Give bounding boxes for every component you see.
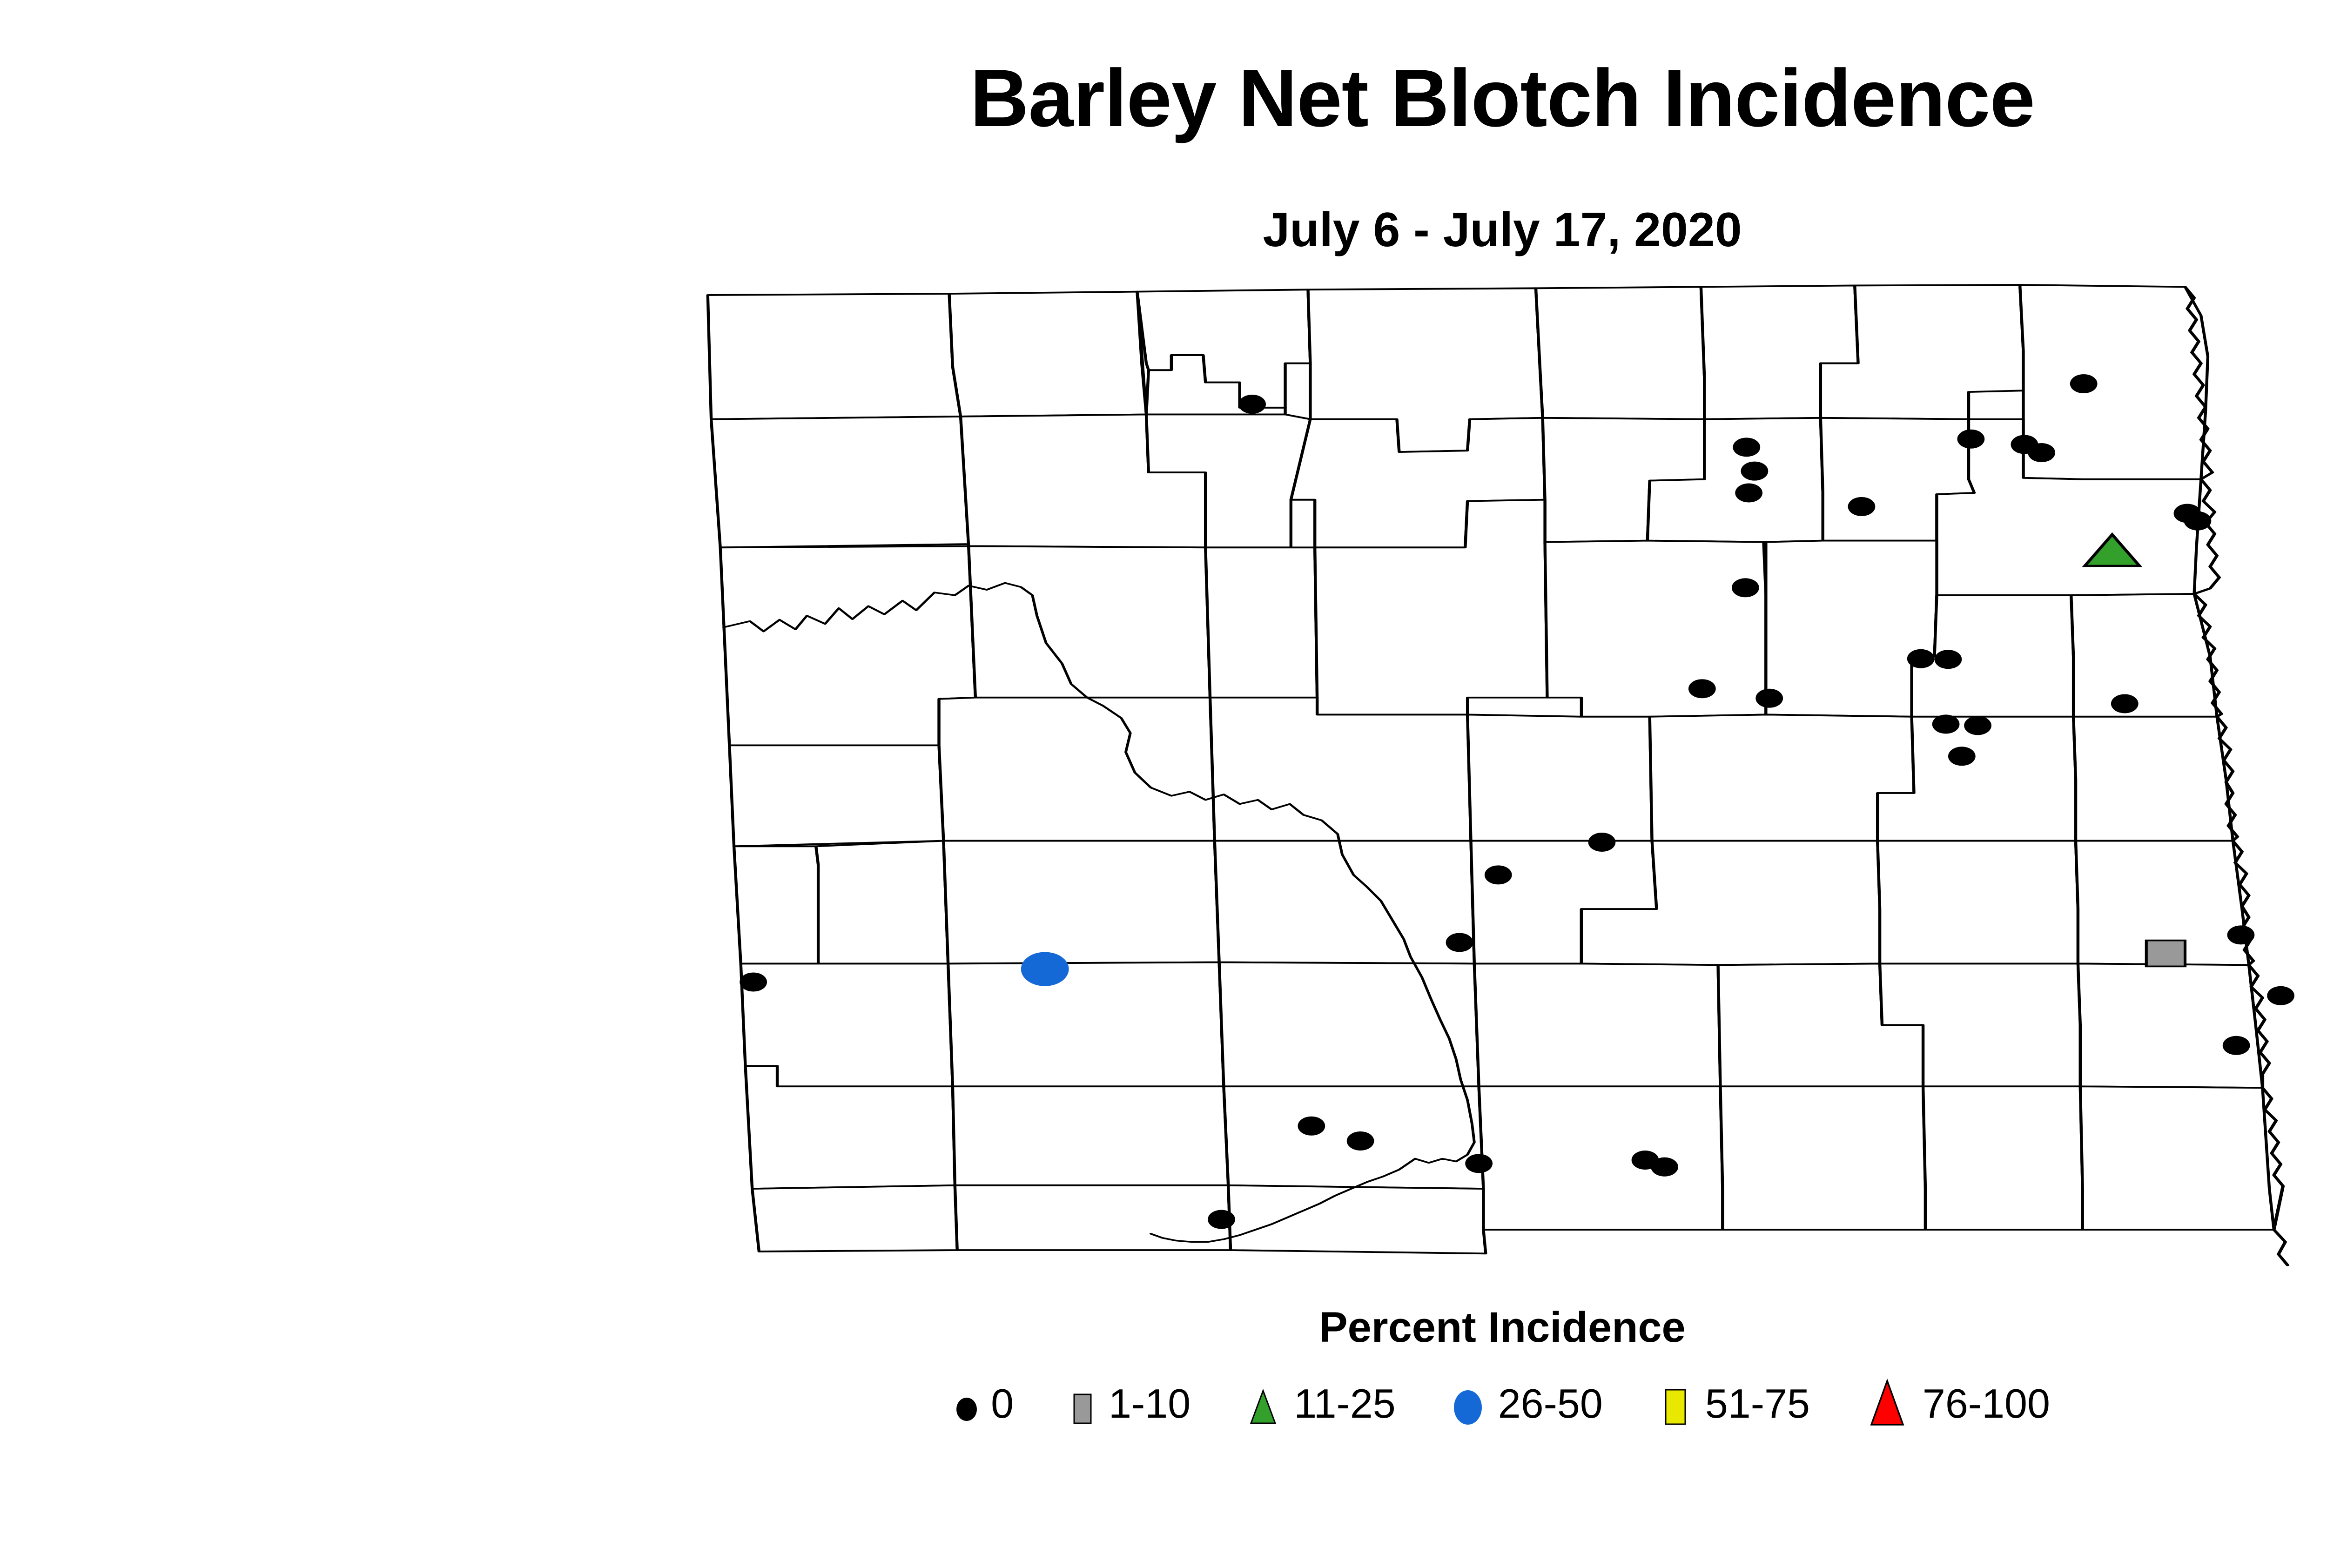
marker-circle-0 xyxy=(1732,578,1759,597)
marker-circle-0 xyxy=(1755,689,1783,708)
gray-square-icon xyxy=(1068,1380,1096,1427)
black-circle-icon xyxy=(955,1380,979,1427)
marker-circle-0 xyxy=(2227,925,2255,944)
marker-circle-0 xyxy=(740,972,767,991)
page-title: Barley Net Blotch Incidence xyxy=(0,56,2327,141)
marker-circle-0 xyxy=(1238,395,1266,414)
legend-label-51-75: 51-75 xyxy=(1705,1380,1810,1427)
marker-circle-0 xyxy=(1347,1131,1374,1151)
marker-circle-0 xyxy=(1298,1117,1325,1136)
marker-circle-0 xyxy=(1208,1210,1235,1229)
marker-circle-0 xyxy=(1735,484,1762,503)
legend-label-11-25: 11-25 xyxy=(1294,1380,1396,1427)
marker-circle-0 xyxy=(2267,986,2294,1005)
marker-circle-0 xyxy=(1688,679,1716,698)
legend-items: 0 1-10 11-25 26-50 xyxy=(0,1378,2327,1429)
legend-title: Percent Incidence xyxy=(0,1303,2327,1352)
marker-circle-0 xyxy=(1848,497,1876,516)
county-polygons xyxy=(708,285,2274,1253)
green-triangle-icon xyxy=(1244,1380,1282,1427)
marker-circle-0 xyxy=(1446,933,1473,952)
marker-square-1-10 xyxy=(2146,941,2185,967)
marker-circle-0 xyxy=(1964,716,1991,735)
marker-circle-0 xyxy=(2028,443,2055,462)
legend-label-76-100: 76-100 xyxy=(1923,1380,2050,1427)
marker-circle-0 xyxy=(1485,865,1512,884)
legend-label-26-50: 26-50 xyxy=(1498,1380,1603,1427)
north-dakota-county-map xyxy=(670,275,2327,1271)
marker-circle-0 xyxy=(1932,714,1960,734)
marker-circle-0 xyxy=(1948,747,1976,766)
marker-circle-0 xyxy=(2111,694,2139,713)
marker-circle-0 xyxy=(1588,833,1616,852)
yellow-square-icon xyxy=(1657,1380,1693,1427)
legend-label-0: 0 xyxy=(991,1380,1014,1427)
chart-page: Barley Net Blotch Incidence July 6 - Jul… xyxy=(0,0,2327,1568)
marker-circle-0 xyxy=(2070,374,2098,393)
legend-item-26-50[interactable]: 26-50 xyxy=(1450,1380,1603,1427)
marker-circle-0 xyxy=(2184,511,2212,531)
marker-circle-0 xyxy=(1733,437,1760,457)
marker-circle-0 xyxy=(1651,1157,1678,1177)
blue-circle-icon xyxy=(1450,1380,1486,1427)
legend-item-11-25[interactable]: 11-25 xyxy=(1244,1380,1396,1427)
page-subtitle: July 6 - July 17, 2020 xyxy=(0,205,2327,256)
legend-label-1-10: 1-10 xyxy=(1109,1380,1190,1427)
marker-circle-0 xyxy=(1741,462,1769,481)
marker-circle-0 xyxy=(2223,1036,2250,1055)
marker-circle-0 xyxy=(1957,430,1985,449)
legend-item-0[interactable]: 0 xyxy=(955,1380,1014,1427)
legend-item-51-75[interactable]: 51-75 xyxy=(1657,1380,1810,1427)
red-triangle-icon xyxy=(1864,1378,1910,1429)
marker-circle-0 xyxy=(1907,649,1935,668)
marker-circle-26-50 xyxy=(1021,952,1069,986)
marker-circle-0 xyxy=(1935,650,1962,669)
marker-circle-0 xyxy=(1465,1154,1493,1173)
legend: Percent Incidence 0 1-10 11-25 xyxy=(0,1303,2327,1429)
legend-item-76-100[interactable]: 76-100 xyxy=(1864,1378,2050,1429)
legend-item-1-10[interactable]: 1-10 xyxy=(1068,1380,1190,1427)
